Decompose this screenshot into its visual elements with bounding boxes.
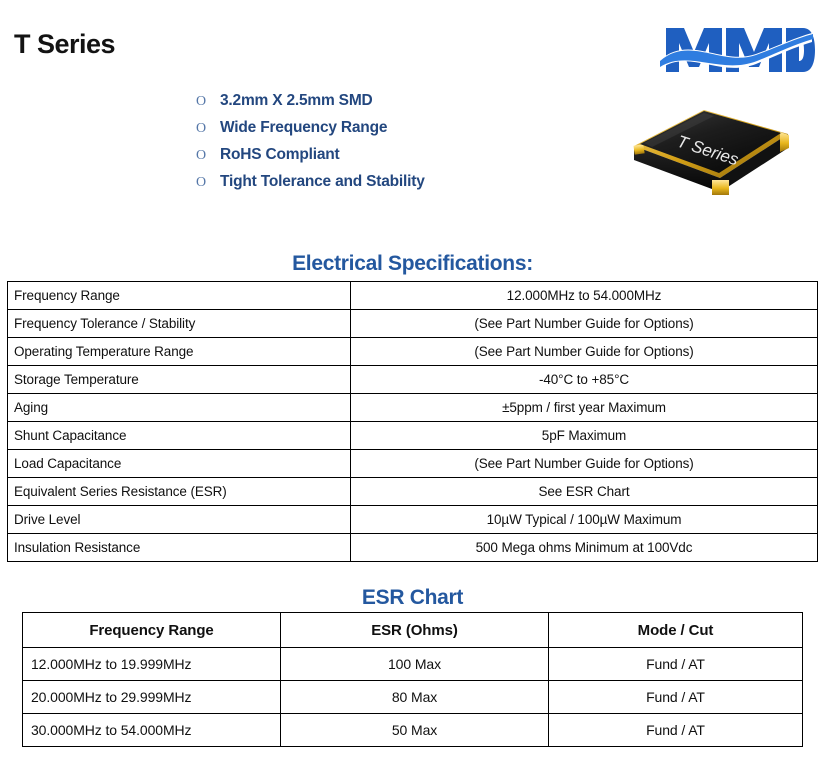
table-row: 30.000MHz to 54.000MHz 50 Max Fund / AT — [23, 714, 803, 747]
table-header-row: Frequency Range ESR (Ohms) Mode / Cut — [23, 613, 803, 648]
bullet-circle-icon: O — [196, 122, 220, 136]
spec-value: -40°C to +85°C — [351, 366, 818, 394]
esr-mode-cut: Fund / AT — [549, 648, 803, 681]
table-row: Shunt Capacitance 5pF Maximum — [8, 422, 818, 450]
spec-parameter: Insulation Resistance — [8, 534, 351, 562]
table-row: Frequency Tolerance / Stability (See Par… — [8, 310, 818, 338]
spec-value: See ESR Chart — [351, 478, 818, 506]
spec-value: 12.000MHz to 54.000MHz — [351, 282, 818, 310]
table-row: Aging ±5ppm / first year Maximum — [8, 394, 818, 422]
esr-frequency-range: 30.000MHz to 54.000MHz — [23, 714, 281, 747]
list-item: O Wide Frequency Range — [196, 119, 526, 146]
esr-chart-heading: ESR Chart — [0, 586, 825, 610]
column-header-mode-cut: Mode / Cut — [549, 613, 803, 648]
list-item: O 3.2mm X 2.5mm SMD — [196, 92, 526, 119]
column-header-frequency-range: Frequency Range — [23, 613, 281, 648]
esr-mode-cut: Fund / AT — [549, 681, 803, 714]
spec-parameter: Frequency Tolerance / Stability — [8, 310, 351, 338]
feature-list: O 3.2mm X 2.5mm SMD O Wide Frequency Ran… — [196, 92, 526, 200]
spec-value: 5pF Maximum — [351, 422, 818, 450]
bullet-circle-icon: O — [196, 95, 220, 109]
spec-parameter: Drive Level — [8, 506, 351, 534]
table-row: Load Capacitance (See Part Number Guide … — [8, 450, 818, 478]
spec-parameter: Operating Temperature Range — [8, 338, 351, 366]
feature-label: RoHS Compliant — [220, 146, 339, 164]
esr-value: 100 Max — [281, 648, 549, 681]
esr-mode-cut: Fund / AT — [549, 714, 803, 747]
spec-value: 500 Mega ohms Minimum at 100Vdc — [351, 534, 818, 562]
column-header-esr-ohms: ESR (Ohms) — [281, 613, 549, 648]
spec-parameter: Shunt Capacitance — [8, 422, 351, 450]
electrical-specifications-heading: Electrical Specifications: — [0, 252, 825, 276]
bullet-circle-icon: O — [196, 176, 220, 190]
esr-chart-table: Frequency Range ESR (Ohms) Mode / Cut 12… — [22, 612, 803, 747]
table-row: Insulation Resistance 500 Mega ohms Mini… — [8, 534, 818, 562]
table-row: Frequency Range 12.000MHz to 54.000MHz — [8, 282, 818, 310]
spec-value: (See Part Number Guide for Options) — [351, 338, 818, 366]
spec-parameter: Storage Temperature — [8, 366, 351, 394]
spec-parameter: Equivalent Series Resistance (ESR) — [8, 478, 351, 506]
spec-parameter: Aging — [8, 394, 351, 422]
table-row: 12.000MHz to 19.999MHz 100 Max Fund / AT — [23, 648, 803, 681]
esr-value: 80 Max — [281, 681, 549, 714]
list-item: O Tight Tolerance and Stability — [196, 173, 526, 200]
spec-parameter: Frequency Range — [8, 282, 351, 310]
mmd-logo — [660, 20, 815, 76]
page-title: T Series — [14, 29, 115, 60]
feature-label: Tight Tolerance and Stability — [220, 173, 425, 191]
feature-label: Wide Frequency Range — [220, 119, 387, 137]
esr-value: 50 Max — [281, 714, 549, 747]
esr-frequency-range: 12.000MHz to 19.999MHz — [23, 648, 281, 681]
list-item: O RoHS Compliant — [196, 146, 526, 173]
spec-parameter: Load Capacitance — [8, 450, 351, 478]
spec-value: 10µW Typical / 100µW Maximum — [351, 506, 818, 534]
spec-value: (See Part Number Guide for Options) — [351, 310, 818, 338]
table-row: 20.000MHz to 29.999MHz 80 Max Fund / AT — [23, 681, 803, 714]
table-row: Drive Level 10µW Typical / 100µW Maximum — [8, 506, 818, 534]
feature-label: 3.2mm X 2.5mm SMD — [220, 92, 373, 110]
spec-value: ±5ppm / first year Maximum — [351, 394, 818, 422]
electrical-specifications-table: Frequency Range 12.000MHz to 54.000MHz F… — [7, 281, 818, 562]
bullet-circle-icon: O — [196, 149, 220, 163]
esr-frequency-range: 20.000MHz to 29.999MHz — [23, 681, 281, 714]
table-row: Equivalent Series Resistance (ESR) See E… — [8, 478, 818, 506]
table-row: Operating Temperature Range (See Part Nu… — [8, 338, 818, 366]
spec-value: (See Part Number Guide for Options) — [351, 450, 818, 478]
table-row: Storage Temperature -40°C to +85°C — [8, 366, 818, 394]
smd-crystal-package-image: T Series — [628, 100, 794, 210]
